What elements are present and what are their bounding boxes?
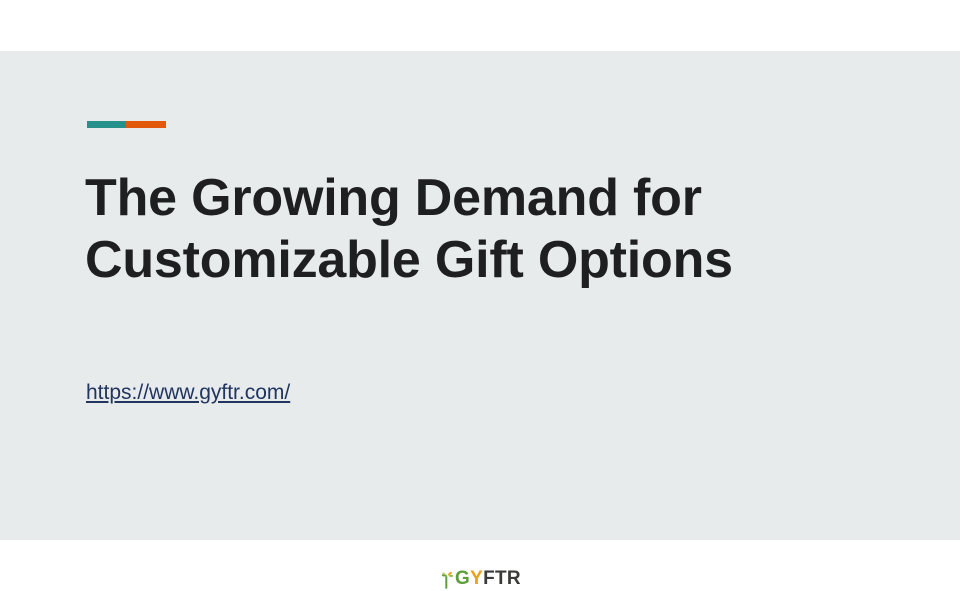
presentation-slide: The Growing Demand for Customizable Gift…: [0, 0, 960, 540]
footer-logo: G Y FTR: [0, 562, 960, 591]
logo-letter-y: Y: [470, 569, 483, 589]
page-title: The Growing Demand for Customizable Gift…: [85, 167, 885, 291]
gyftr-logo-lockup: G Y FTR: [439, 565, 521, 589]
accent-rule: [87, 121, 166, 128]
slide-canvas: The Growing Demand for Customizable Gift…: [0, 51, 960, 540]
gyftr-gift-sprout-icon: [439, 567, 456, 589]
accent-rule-teal-segment: [87, 121, 126, 128]
source-url-link[interactable]: https://www.gyftr.com/: [86, 379, 290, 407]
accent-rule-orange-segment: [126, 121, 166, 128]
logo-letter-g: G: [455, 569, 470, 589]
logo-letters-ftr: FTR: [483, 569, 521, 589]
top-white-band: [0, 0, 960, 51]
